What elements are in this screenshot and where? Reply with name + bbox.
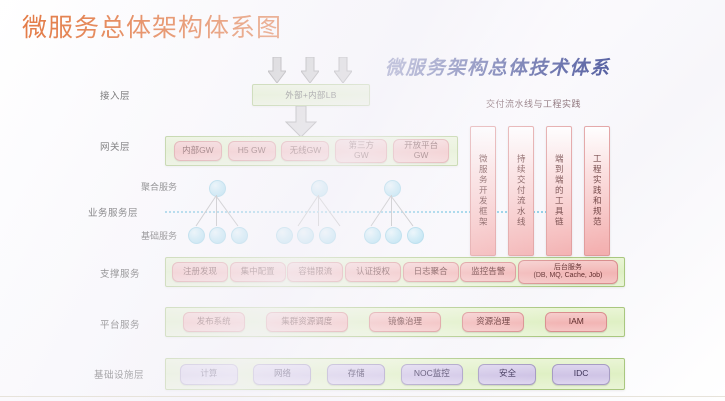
delivery-box-pipeline[interactable]: 持续交付流水线 [508, 126, 534, 256]
diagram-subtitle: 微服务架构总体技术体系 [385, 53, 611, 80]
basic-service-node[interactable] [188, 227, 205, 244]
basic-service-node[interactable] [319, 227, 336, 244]
gateway-chip-openplatform[interactable]: 开放平台 GW [393, 139, 449, 163]
basic-service-label: 基础服务 [141, 229, 177, 242]
support-chip-monitoring[interactable]: 监控告警 [460, 262, 516, 282]
delivery-box-toolchain[interactable]: 端到端的工具链 [546, 126, 572, 256]
lb-to-gateway-arrow-icon [285, 106, 317, 137]
support-chip-registry[interactable]: 注册发现 [172, 262, 228, 282]
basic-service-node[interactable] [209, 227, 226, 244]
gateway-chip-thirdparty[interactable]: 第三方 GW [335, 139, 387, 163]
delivery-panel-title: 交付流水线与工程实践 [486, 97, 581, 110]
delivery-box-toolchain-label: 端到端的工具链 [555, 154, 564, 228]
basic-service-node[interactable] [385, 227, 402, 244]
layer-label-support: 支撑服务 [100, 266, 140, 280]
platform-chip-resource[interactable]: 资源治理 [462, 312, 524, 332]
layer-label-platform: 平台服务 [100, 317, 140, 331]
layer-label-infrastructure: 基础设施层 [94, 367, 144, 381]
aggregate-service-label: 聚合服务 [141, 180, 177, 193]
infra-chip-network[interactable]: 网络 [253, 364, 311, 385]
gateway-chip-internal[interactable]: 内部GW [174, 141, 222, 161]
delivery-box-practices[interactable]: 工程实践和规范 [584, 126, 610, 256]
platform-layer-band: 发布系统 集群资源调度 镜像治理 资源治理 IAM [165, 307, 625, 337]
inbound-arrow-icon-2 [301, 57, 319, 83]
infra-chip-noc[interactable]: NOC监控 [401, 364, 463, 385]
aggregate-service-node[interactable] [384, 180, 401, 197]
delivery-box-pipeline-label: 持续交付流水线 [517, 154, 526, 228]
basic-service-node[interactable] [407, 227, 424, 244]
support-chip-backend[interactable]: 后台服务 (DB, MQ, Cache, Job) [518, 260, 618, 284]
bottom-divider [0, 396, 725, 397]
delivery-box-framework-label: 微服务开发框架 [479, 154, 488, 228]
support-chip-logging[interactable]: 日志聚合 [403, 262, 459, 282]
delivery-box-framework[interactable]: 微服务开发框架 [470, 126, 496, 256]
inbound-arrow-icon-1 [268, 57, 286, 83]
infrastructure-layer-band: 计算 网络 存储 NOC监控 安全 IDC [165, 358, 625, 390]
load-balancer-box[interactable]: 外部+内部LB [252, 84, 370, 106]
gateway-chip-wireless[interactable]: 无线GW [281, 141, 329, 161]
layer-label-gateway: 网关层 [100, 139, 130, 153]
slide-glare-overlay [0, 0, 725, 401]
gateway-layer-band: 内部GW H5 GW 无线GW 第三方 GW 开放平台 GW [165, 136, 458, 166]
platform-chip-iam[interactable]: IAM [545, 312, 607, 332]
layer-label-business: 业务服务层 [88, 205, 138, 219]
page-title: 微服务总体架构体系图 [22, 8, 282, 44]
infra-chip-compute[interactable]: 计算 [180, 364, 238, 385]
service-fan-connector [292, 196, 352, 228]
aggregate-service-node[interactable] [209, 180, 226, 197]
basic-service-node[interactable] [231, 227, 248, 244]
platform-chip-image[interactable]: 镜像治理 [369, 312, 441, 332]
inbound-arrow-icon-3 [334, 57, 352, 83]
layer-label-access: 接入层 [100, 88, 130, 102]
infra-chip-idc[interactable]: IDC [552, 364, 610, 385]
service-fan-connector [190, 196, 250, 228]
basic-service-node[interactable] [364, 227, 381, 244]
support-chip-config[interactable]: 集中配置 [230, 262, 286, 282]
infra-chip-storage[interactable]: 存储 [327, 364, 385, 385]
basic-service-node[interactable] [297, 227, 314, 244]
support-layer-band: 注册发现 集中配置 容错限流 认证授权 日志聚合 监控告警 后台服务 (DB, … [165, 257, 625, 287]
delivery-box-practices-label: 工程实践和规范 [593, 154, 602, 228]
service-fan-connector [365, 196, 425, 228]
load-balancer-label: 外部+内部LB [285, 89, 336, 101]
infra-chip-security[interactable]: 安全 [478, 364, 536, 385]
aggregate-service-node[interactable] [311, 180, 328, 197]
basic-service-node[interactable] [276, 227, 293, 244]
platform-chip-scheduler[interactable]: 集群资源调度 [266, 312, 348, 332]
support-chip-faulttolerance[interactable]: 容错限流 [287, 262, 343, 282]
gateway-chip-h5[interactable]: H5 GW [228, 141, 276, 161]
support-chip-auth[interactable]: 认证授权 [345, 262, 401, 282]
platform-chip-release[interactable]: 发布系统 [183, 312, 245, 332]
diagram-canvas: 微服务总体架构体系图 微服务架构总体技术体系 接入层 网关层 业务服务层 支撑服… [0, 0, 725, 401]
